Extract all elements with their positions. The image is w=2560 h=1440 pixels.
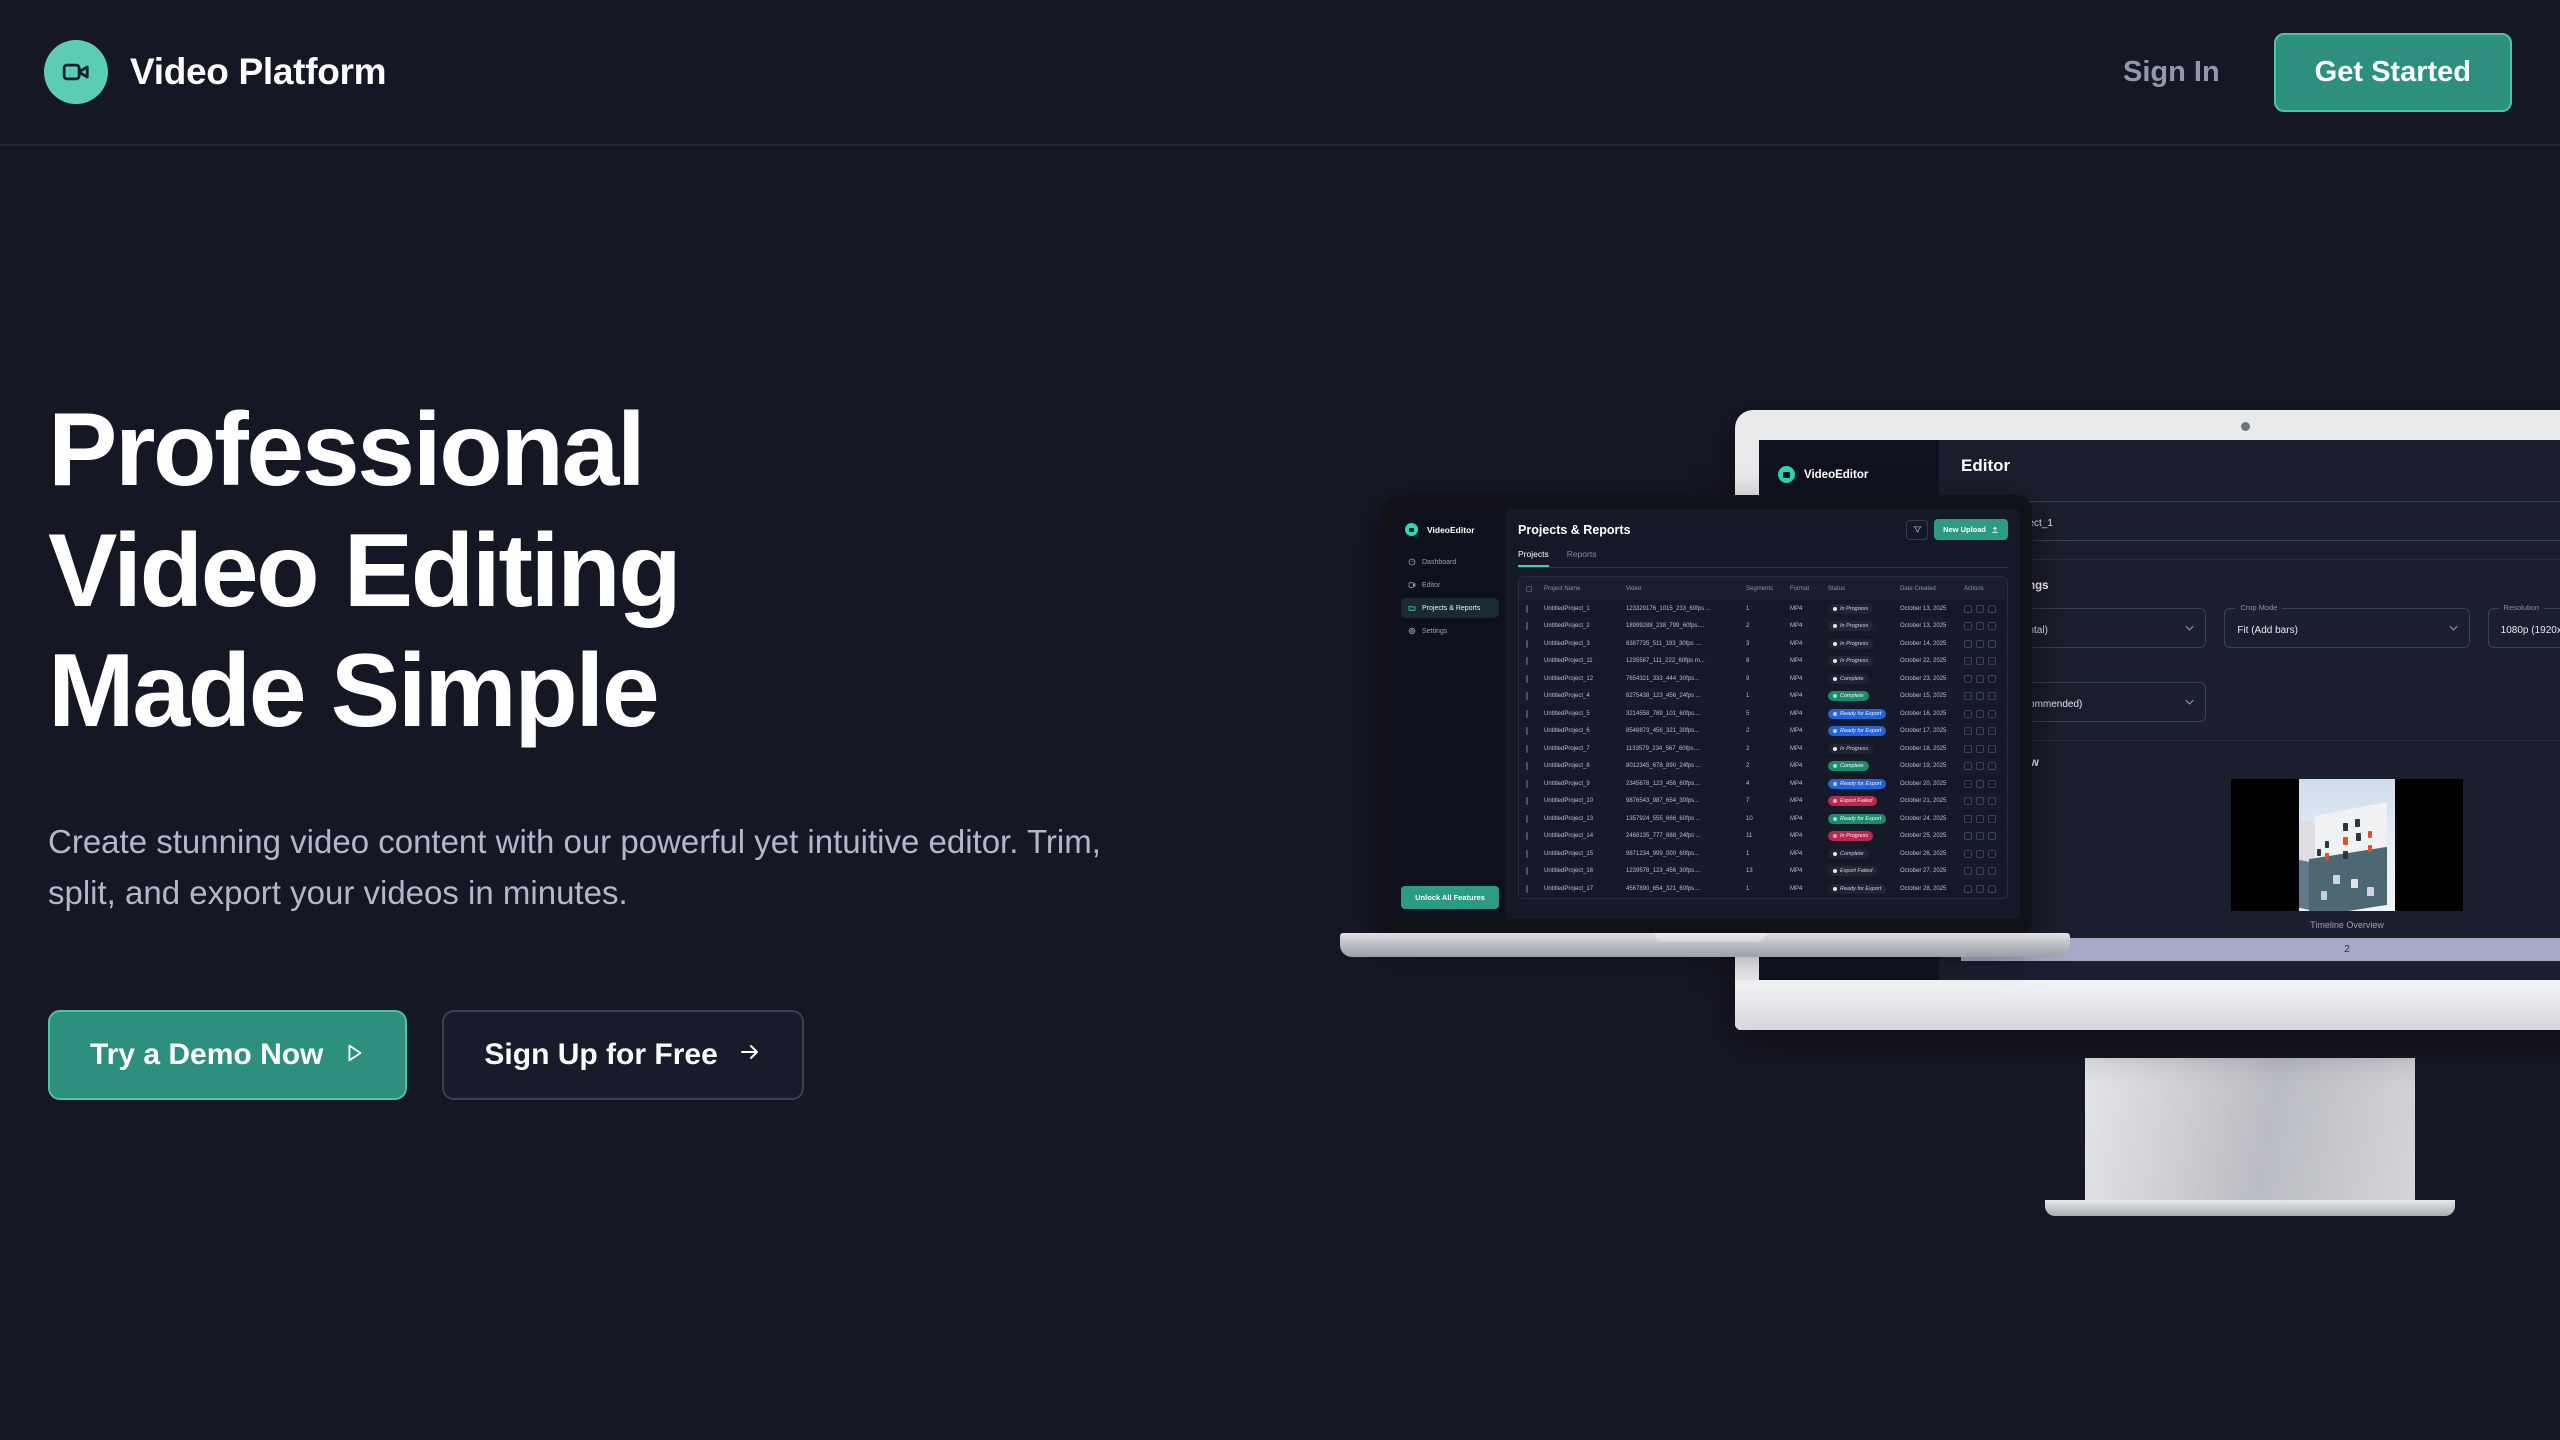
cell-format: MP4: [1790, 606, 1828, 612]
cell-video: 8275438_123_456_24fps ...: [1626, 693, 1746, 699]
cell-status: Export Failed: [1828, 866, 1900, 876]
cell-actions: [1964, 675, 2008, 683]
video-camera-icon: [1778, 466, 1795, 483]
crop-mode-select[interactable]: Crop Mode Fit (Add bars): [2224, 608, 2469, 648]
cell-date-created: October 15, 2025: [1900, 693, 1964, 699]
cell-actions: [1964, 815, 2008, 823]
editor-page-title: Editor: [1961, 456, 2010, 476]
cell-status: In Progress: [1828, 831, 1900, 841]
cell-status: In Progress: [1828, 639, 1900, 649]
download-icon[interactable]: [1976, 850, 1984, 858]
cell-video: 3214558_789_101_60fps....: [1626, 711, 1746, 717]
download-icon[interactable]: [1976, 727, 1984, 735]
row-checkbox[interactable]: [1526, 640, 1528, 648]
cell-project-name: UntitledProject_6: [1544, 728, 1626, 734]
new-upload-label: New Upload: [1943, 525, 1986, 534]
cell-date-created: October 26, 2025: [1900, 851, 1964, 857]
cell-format: MP4: [1790, 641, 1828, 647]
cell-date-created: October 17, 2025: [1900, 728, 1964, 734]
crop-mode-label: Crop Mode: [2235, 603, 2282, 612]
download-icon[interactable]: [1976, 675, 1984, 683]
edit-icon[interactable]: [1964, 780, 1972, 788]
edit-icon[interactable]: [1964, 885, 1972, 893]
download-icon[interactable]: [1976, 885, 1984, 893]
trash-icon[interactable]: [1988, 867, 1996, 875]
select-all-checkbox[interactable]: [1526, 586, 1532, 592]
laptop-main-panel: Projects & Reports New Upload: [1506, 509, 2020, 919]
laptop-app-brand: VideoEditor: [1405, 523, 1499, 536]
edit-icon[interactable]: [1964, 745, 1972, 753]
edit-icon[interactable]: [1964, 832, 1972, 840]
row-checkbox[interactable]: [1526, 605, 1528, 613]
row-checkbox[interactable]: [1526, 657, 1528, 665]
cell-actions: [1964, 745, 2008, 753]
table-row[interactable]: UntitledProject_71133579_234_567_60fps..…: [1519, 740, 2007, 758]
get-started-button[interactable]: Get Started: [2274, 33, 2512, 112]
resolution-select[interactable]: Resolution 1080p (1920x1080): [2488, 608, 2560, 648]
cell-actions: [1964, 867, 2008, 875]
cell-actions: [1964, 710, 2008, 718]
projects-tabs: Projects Reports: [1518, 549, 2008, 568]
laptop-mockup: VideoEditor Dashboard Editor Projec: [1360, 495, 2060, 995]
laptop-notch: [1659, 495, 1755, 509]
table-row[interactable]: UntitledProject_131357924_555_666_60fps …: [1519, 810, 2007, 828]
download-icon[interactable]: [1976, 692, 1984, 700]
cell-format: MP4: [1790, 728, 1828, 734]
download-icon[interactable]: [1976, 710, 1984, 718]
cell-video: 1133579_234_567_60fps....: [1626, 746, 1746, 752]
monitor-foot: [2045, 1200, 2455, 1216]
col-video[interactable]: Video: [1626, 586, 1746, 592]
laptop-base-notch: [1655, 933, 1765, 942]
cell-status: Ready for Export: [1828, 709, 1900, 719]
edit-icon[interactable]: [1964, 622, 1972, 630]
cell-video: 9876543_987_654_30fps...: [1626, 798, 1746, 804]
download-icon[interactable]: [1976, 657, 1984, 665]
chevron-down-icon: [2449, 625, 2458, 631]
cell-status: In Progress: [1828, 604, 1900, 614]
cell-date-created: October 21, 2025: [1900, 798, 1964, 804]
landing-page: Video Platform Sign In Get Started Profe…: [0, 0, 2560, 1440]
resolution-value: 1080p (1920x1080): [2501, 625, 2560, 636]
cell-project-name: UntitledProject_5: [1544, 711, 1626, 717]
cell-date-created: October 25, 2025: [1900, 833, 1964, 839]
trash-icon[interactable]: [1988, 710, 1996, 718]
editor-app-name: VideoEditor: [1804, 469, 1868, 481]
sidebar-label: Projects & Reports: [1422, 605, 1480, 612]
cell-date-created: October 16, 2025: [1900, 711, 1964, 717]
brand[interactable]: Video Platform: [44, 40, 386, 104]
cell-segments: 5: [1746, 711, 1790, 717]
trash-icon[interactable]: [1988, 692, 1996, 700]
cell-project-name: UntitledProject_8: [1544, 763, 1626, 769]
edit-icon[interactable]: [1964, 762, 1972, 770]
hero-title-line-3: Made Simple: [48, 633, 657, 749]
filter-button[interactable]: [1906, 520, 1928, 540]
col-format[interactable]: Format: [1790, 586, 1828, 592]
tab-reports[interactable]: Reports: [1567, 549, 1597, 567]
cell-date-created: October 13, 2025: [1900, 606, 1964, 612]
trash-icon[interactable]: [1988, 797, 1996, 805]
table-row[interactable]: UntitledProject_161239578_123_456_30fps.…: [1519, 863, 2007, 881]
col-project-name[interactable]: Project Name: [1544, 586, 1626, 592]
cell-project-name: UntitledProject_13: [1544, 816, 1626, 822]
video-camera-icon: [1405, 523, 1418, 536]
sidebar-label: Settings: [1422, 628, 1447, 635]
status-badge: In Progress: [1828, 639, 1873, 649]
sidebar-label: Editor: [1422, 582, 1440, 589]
table-row[interactable]: UntitledProject_53214558_789_101_60fps..…: [1519, 705, 2007, 723]
cell-date-created: October 27, 2025: [1900, 868, 1964, 874]
download-icon[interactable]: [1976, 605, 1984, 613]
status-badge: Ready for Export: [1828, 709, 1886, 719]
crop-mode-value: Fit (Add bars): [2237, 625, 2298, 636]
status-badge: In Progress: [1828, 831, 1873, 841]
cell-segments: 10: [1746, 816, 1790, 822]
cell-format: MP4: [1790, 868, 1828, 874]
row-checkbox[interactable]: [1526, 727, 1528, 735]
row-checkbox[interactable]: [1526, 710, 1528, 718]
cell-segments: 11: [1746, 833, 1790, 839]
trash-icon[interactable]: [1988, 745, 1996, 753]
cell-video: 8548873_456_321_30fps...: [1626, 728, 1746, 734]
chevron-down-icon: [2185, 625, 2194, 631]
edit-icon[interactable]: [1964, 657, 1972, 665]
cell-segments: 1: [1746, 851, 1790, 857]
projects-toolbar: Projects & Reports New Upload: [1518, 519, 2008, 540]
status-badge: Ready for Export: [1828, 814, 1886, 824]
edit-icon[interactable]: [1964, 727, 1972, 735]
table-body: UntitledProject_1123329176_1015_233_60fp…: [1519, 600, 2007, 898]
status-badge: Ready for Export: [1828, 779, 1886, 789]
webcam-icon: [2241, 422, 2250, 431]
status-badge: In Progress: [1828, 604, 1873, 614]
cell-video: 1239578_123_456_30fps....: [1626, 868, 1746, 874]
status-badge: Ready for Export: [1828, 726, 1886, 736]
status-badge: Export Failed: [1828, 866, 1877, 876]
cell-video: 8012345_678_890_24fps ...: [1626, 763, 1746, 769]
editor-app-brand: VideoEditor: [1778, 466, 1927, 483]
row-checkbox[interactable]: [1526, 885, 1528, 893]
cell-date-created: October 22, 2025: [1900, 658, 1964, 664]
status-badge: In Progress: [1828, 656, 1873, 666]
cell-actions: [1964, 797, 2008, 805]
cell-video: 1235587_111_222_60fps m...: [1626, 658, 1746, 664]
product-mockup-scene: VideoEditor Dashboard Editor Projec: [1360, 380, 2560, 1200]
row-checkbox[interactable]: [1526, 780, 1528, 788]
cell-project-name: UntitledProject_4: [1544, 693, 1626, 699]
try-demo-label: Try a Demo Now: [90, 1038, 323, 1072]
site-header: Video Platform Sign In Get Started: [0, 0, 2560, 146]
cell-status: In Progress: [1828, 621, 1900, 631]
col-actions: Actions: [1964, 586, 2008, 592]
edit-icon[interactable]: [1964, 692, 1972, 700]
cell-date-created: October 23, 2025: [1900, 676, 1964, 682]
status-badge: Ready for Export: [1828, 884, 1886, 894]
cell-project-name: UntitledProject_10: [1544, 798, 1626, 804]
download-icon[interactable]: [1976, 780, 1984, 788]
col-date-created[interactable]: Date Created: [1900, 586, 1964, 592]
hero-cta-row: Try a Demo Now Sign Up for Free: [48, 1010, 1108, 1100]
cell-format: MP4: [1790, 746, 1828, 752]
cell-segments: 13: [1746, 868, 1790, 874]
cell-status: Ready for Export: [1828, 884, 1900, 894]
cell-status: Ready for Export: [1828, 726, 1900, 736]
edit-icon[interactable]: [1964, 797, 1972, 805]
cell-project-name: UntitledProject_7: [1544, 746, 1626, 752]
building-photo: [2299, 779, 2395, 911]
trash-icon[interactable]: [1988, 657, 1996, 665]
header-actions: Sign In Get Started: [2123, 33, 2512, 112]
cell-segments: 9: [1746, 676, 1790, 682]
tab-projects[interactable]: Projects: [1518, 549, 1549, 567]
cell-project-name: UntitledProject_2: [1544, 623, 1626, 629]
cell-actions: [1964, 640, 2008, 648]
film-icon: [1408, 581, 1416, 589]
trash-icon[interactable]: [1988, 850, 1996, 858]
download-icon[interactable]: [1976, 745, 1984, 753]
edit-icon[interactable]: [1964, 675, 1972, 683]
try-demo-button[interactable]: Try a Demo Now: [48, 1010, 407, 1100]
cell-actions: [1964, 850, 2008, 858]
brand-name: Video Platform: [130, 51, 386, 93]
sidebar-item-editor[interactable]: Editor: [1401, 575, 1499, 595]
table-row[interactable]: UntitledProject_218999288_238_799_60fps.…: [1519, 618, 2007, 636]
cell-status: Ready for Export: [1828, 779, 1900, 789]
gauge-icon: [1408, 558, 1416, 566]
edit-icon[interactable]: [1964, 850, 1972, 858]
cell-project-name: UntitledProject_11: [1544, 658, 1626, 664]
cell-project-name: UntitledProject_1: [1544, 606, 1626, 612]
cell-project-name: UntitledProject_3: [1544, 641, 1626, 647]
cell-format: MP4: [1790, 833, 1828, 839]
col-segments[interactable]: Segments: [1746, 586, 1790, 592]
cell-status: In Progress: [1828, 656, 1900, 666]
cell-actions: [1964, 832, 2008, 840]
laptop-sidebar: VideoEditor Dashboard Editor Projec: [1394, 509, 1506, 919]
cell-date-created: October 24, 2025: [1900, 816, 1964, 822]
chevron-down-icon: [2185, 699, 2194, 705]
cell-status: Complete: [1828, 849, 1900, 859]
download-icon[interactable]: [1976, 762, 1984, 770]
cell-actions: [1964, 657, 2008, 665]
upload-icon: [1991, 526, 1999, 534]
cell-video: 7654321_333_444_30fps...: [1626, 676, 1746, 682]
download-icon[interactable]: [1976, 622, 1984, 630]
cell-project-name: UntitledProject_14: [1544, 833, 1626, 839]
download-icon[interactable]: [1976, 640, 1984, 648]
sign-up-free-button[interactable]: Sign Up for Free: [442, 1010, 803, 1100]
status-badge: Complete: [1828, 761, 1869, 771]
download-icon[interactable]: [1976, 867, 1984, 875]
cell-actions: [1964, 885, 2008, 893]
cell-segments: 2: [1746, 623, 1790, 629]
cell-segments: 8: [1746, 658, 1790, 664]
cell-segments: 2: [1746, 746, 1790, 752]
table-row[interactable]: UntitledProject_68548873_456_321_30fps..…: [1519, 723, 2007, 741]
cell-actions: [1964, 605, 2008, 613]
cell-video: 8387735_511_193_30fps ....: [1626, 641, 1746, 647]
cell-format: MP4: [1790, 816, 1828, 822]
trash-icon[interactable]: [1988, 605, 1996, 613]
edit-icon[interactable]: [1964, 867, 1972, 875]
video-player-preview[interactable]: [2231, 779, 2463, 911]
cell-actions: [1964, 692, 2008, 700]
table-header-row: Project Name Video Segments Format Statu…: [1519, 577, 2007, 600]
play-triangle-icon: [343, 1038, 365, 1072]
trash-icon[interactable]: [1988, 727, 1996, 735]
laptop-screen: VideoEditor Dashboard Editor Projec: [1394, 509, 2020, 919]
hero-title-line-1: Professional: [48, 392, 643, 508]
folder-icon: [1408, 604, 1416, 612]
status-badge: Complete: [1828, 691, 1869, 701]
table-row[interactable]: UntitledProject_127654321_333_444_30fps.…: [1519, 670, 2007, 688]
sidebar-label: Dashboard: [1422, 559, 1456, 566]
trash-icon[interactable]: [1988, 815, 1996, 823]
status-badge: Export Failed: [1828, 796, 1877, 806]
cell-status: Complete: [1828, 691, 1900, 701]
cell-segments: 1: [1746, 886, 1790, 892]
cell-video: 9871234_999_000_60fps...: [1626, 851, 1746, 857]
table-row[interactable]: UntitledProject_159871234_999_000_60fps.…: [1519, 845, 2007, 863]
cell-status: Ready for Export: [1828, 814, 1900, 824]
edit-icon[interactable]: [1964, 640, 1972, 648]
monitor-stand: [2085, 1058, 2415, 1208]
row-checkbox[interactable]: [1526, 850, 1528, 858]
filter-icon: [1913, 525, 1922, 534]
cell-segments: 1: [1746, 693, 1790, 699]
cell-project-name: UntitledProject_17: [1544, 886, 1626, 892]
row-checkbox[interactable]: [1526, 815, 1528, 823]
hero-subtitle: Create stunning video content with our p…: [48, 816, 1108, 918]
cell-segments: 4: [1746, 781, 1790, 787]
cell-format: MP4: [1790, 781, 1828, 787]
cell-video: 2468135_777_888_24fps ...: [1626, 833, 1746, 839]
trash-icon[interactable]: [1988, 640, 1996, 648]
table-row[interactable]: UntitledProject_142468135_777_888_24fps …: [1519, 828, 2007, 846]
download-icon[interactable]: [1976, 832, 1984, 840]
gear-icon: [1408, 627, 1416, 635]
unlock-all-features-button[interactable]: Unlock All Features: [1401, 886, 1499, 909]
trash-icon[interactable]: [1988, 885, 1996, 893]
projects-actions: New Upload: [1906, 519, 2008, 540]
cell-date-created: October 28, 2025: [1900, 886, 1964, 892]
cell-status: In Progress: [1828, 744, 1900, 754]
arrow-right-icon: [738, 1038, 762, 1072]
cell-video: 123329176_1015_233_60fps ...: [1626, 606, 1746, 612]
cell-segments: 2: [1746, 728, 1790, 734]
hero-title-line-2: Video Editing: [48, 513, 679, 629]
trash-icon[interactable]: [1988, 762, 1996, 770]
laptop-app-name: VideoEditor: [1427, 525, 1475, 535]
projects-page-title: Projects & Reports: [1518, 523, 1631, 537]
hero-section: Professional Video Editing Made Simple C…: [48, 390, 1108, 1100]
cell-date-created: October 14, 2025: [1900, 641, 1964, 647]
cell-segments: 7: [1746, 798, 1790, 804]
cell-video: 4567890_654_321_60fps....: [1626, 886, 1746, 892]
download-icon[interactable]: [1976, 797, 1984, 805]
cell-format: MP4: [1790, 658, 1828, 664]
status-badge: In Progress: [1828, 621, 1873, 631]
cell-project-name: UntitledProject_15: [1544, 851, 1626, 857]
cell-format: MP4: [1790, 798, 1828, 804]
projects-table: Project Name Video Segments Format Statu…: [1518, 576, 2008, 899]
cell-date-created: October 19, 2025: [1900, 763, 1964, 769]
cell-status: Export Failed: [1828, 796, 1900, 806]
new-upload-button[interactable]: New Upload: [1934, 519, 2008, 540]
cell-actions: [1964, 727, 2008, 735]
resolution-label: Resolution: [2499, 603, 2544, 612]
cell-format: MP4: [1790, 711, 1828, 717]
cell-project-name: UntitledProject_16: [1544, 868, 1626, 874]
row-checkbox[interactable]: [1526, 622, 1528, 630]
video-camera-icon: [44, 40, 108, 104]
sidebar-item-settings[interactable]: Settings: [1401, 621, 1499, 641]
cell-date-created: October 20, 2025: [1900, 781, 1964, 787]
table-row[interactable]: UntitledProject_111235587_111_222_60fps …: [1519, 653, 2007, 671]
table-row[interactable]: UntitledProject_38387735_511_193_30fps .…: [1519, 635, 2007, 653]
cell-status: Complete: [1828, 674, 1900, 684]
table-row[interactable]: UntitledProject_88012345_678_890_24fps .…: [1519, 758, 2007, 776]
cell-format: MP4: [1790, 623, 1828, 629]
table-row[interactable]: UntitledProject_174567890_654_321_60fps.…: [1519, 880, 2007, 898]
sidebar-item-dashboard[interactable]: Dashboard: [1401, 552, 1499, 572]
trash-icon[interactable]: [1988, 832, 1996, 840]
row-checkbox[interactable]: [1526, 762, 1528, 770]
trash-icon[interactable]: [1988, 780, 1996, 788]
cell-project-name: UntitledProject_9: [1544, 781, 1626, 787]
edit-icon[interactable]: [1964, 815, 1972, 823]
cell-project-name: UntitledProject_12: [1544, 676, 1626, 682]
row-checkbox[interactable]: [1526, 797, 1528, 805]
row-checkbox[interactable]: [1526, 832, 1528, 840]
sidebar-item-projects-reports[interactable]: Projects & Reports: [1401, 598, 1499, 618]
cell-segments: 3: [1746, 641, 1790, 647]
cell-format: MP4: [1790, 676, 1828, 682]
cell-actions: [1964, 622, 2008, 630]
status-badge: Complete: [1828, 674, 1869, 684]
row-checkbox[interactable]: [1526, 675, 1528, 683]
cell-actions: [1964, 780, 2008, 788]
table-row[interactable]: UntitledProject_92345678_123_456_60fps..…: [1519, 775, 2007, 793]
sign-up-label: Sign Up for Free: [484, 1038, 717, 1072]
trash-icon[interactable]: [1988, 675, 1996, 683]
col-status[interactable]: Status: [1828, 586, 1900, 592]
status-badge: In Progress: [1828, 744, 1873, 754]
table-row[interactable]: UntitledProject_1123329176_1015_233_60fp…: [1519, 600, 2007, 618]
edit-icon[interactable]: [1964, 605, 1972, 613]
cell-video: 1357924_555_666_60fps ...: [1626, 816, 1746, 822]
cell-segments: 2: [1746, 763, 1790, 769]
trash-icon[interactable]: [1988, 622, 1996, 630]
cell-date-created: October 13, 2025: [1900, 623, 1964, 629]
cell-actions: [1964, 762, 2008, 770]
laptop-lid: VideoEditor Dashboard Editor Projec: [1382, 495, 2032, 935]
cell-date-created: October 18, 2025: [1900, 746, 1964, 752]
editor-toolbar: Editor Save Exp: [1961, 456, 2560, 485]
table-row[interactable]: UntitledProject_109876543_987_654_30fps.…: [1519, 793, 2007, 811]
status-badge: Complete: [1828, 849, 1869, 859]
row-checkbox[interactable]: [1526, 692, 1528, 700]
cell-status: Complete: [1828, 761, 1900, 771]
edit-icon[interactable]: [1964, 710, 1972, 718]
row-checkbox[interactable]: [1526, 745, 1528, 753]
download-icon[interactable]: [1976, 815, 1984, 823]
table-row[interactable]: UntitledProject_48275438_123_456_24fps .…: [1519, 688, 2007, 706]
sign-in-button[interactable]: Sign In: [2123, 56, 2220, 89]
cell-format: MP4: [1790, 886, 1828, 892]
row-checkbox[interactable]: [1526, 867, 1528, 875]
